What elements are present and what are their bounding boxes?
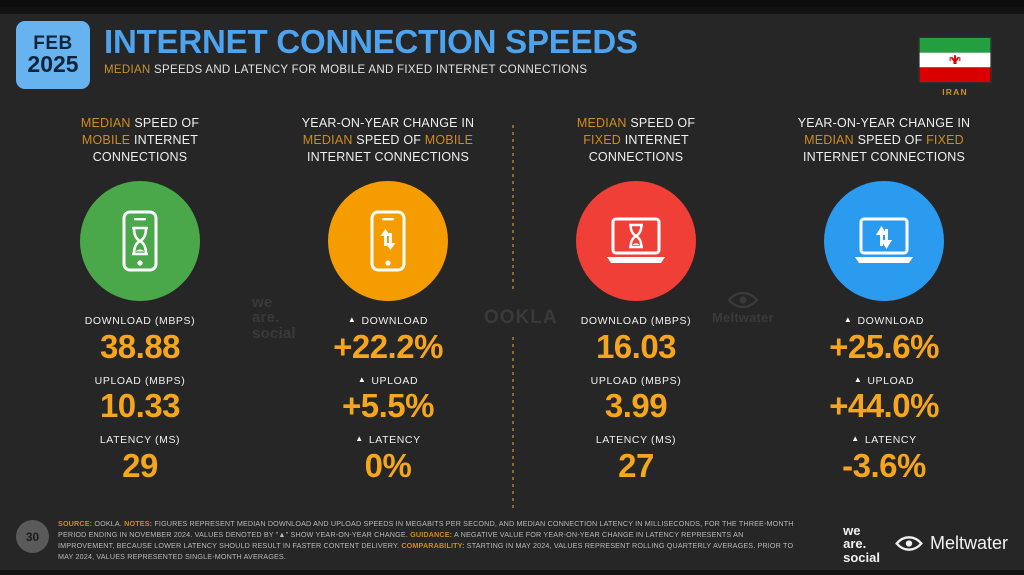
column-heading: MEDIAN SPEED OFMOBILE INTERNETCONNECTION… [20,115,260,177]
icon-circle [328,181,448,301]
metric-label: ▲LATENCY [760,434,1008,447]
metric-label: LATENCY (MS) [16,434,264,447]
watermark-meltwater: Meltwater [712,292,774,325]
metric-label-text: DOWNLOAD [857,315,924,328]
logo-meltwater: Meltwater [894,533,1008,554]
metric-value: 16.03 [512,329,760,366]
metric-label: UPLOAD (MBPS) [16,375,264,388]
metric-label: LATENCY (MS) [512,434,760,447]
icon-circle [80,181,200,301]
heading-text: YEAR-ON-YEAR CHANGE IN [302,116,474,130]
metric-label-text: LATENCY (MS) [100,434,180,447]
heading-highlight: MEDIAN [804,133,854,147]
metric-label: DOWNLOAD (MBPS) [16,315,264,328]
logo-was-line-1: we [843,524,880,537]
metric-value: 10.33 [16,388,264,425]
metric-value: 0% [264,448,512,485]
metric-label-text: LATENCY [865,434,917,447]
column-heading: MEDIAN SPEED OFFIXED INTERNETCONNECTIONS [516,115,756,177]
subtitle-rest: SPEEDS AND LATENCY FOR MOBILE AND FIXED … [151,64,588,76]
date-badge: FEB 2025 [16,21,90,89]
metric-list: DOWNLOAD (MBPS)38.88UPLOAD (MBPS)10.33LA… [16,315,264,485]
heading-text: CONNECTIONS [93,150,188,164]
metric-label-text: DOWNLOAD [361,315,428,328]
title-block: INTERNET CONNECTION SPEEDS MEDIAN SPEEDS… [104,25,638,76]
footnote-text: SOURCE: OOKLA. NOTES: FIGURES REPRESENT … [58,518,798,563]
metric-list: ▲DOWNLOAD+25.6%▲UPLOAD+44.0%▲LATENCY-3.6… [760,315,1008,485]
metric-label: ▲LATENCY [264,434,512,447]
heading-highlight: MEDIAN [577,116,627,130]
metric-label: ▲DOWNLOAD [760,315,1008,328]
icon-circle [576,181,696,301]
watermark-we-are-social: we are. social [252,295,296,341]
laptop-transfer-icon [843,200,925,282]
column-heading-line: MEDIAN SPEED OF [516,115,756,132]
metric-label: UPLOAD (MBPS) [512,375,760,388]
metric-value: 38.88 [16,329,264,366]
column-heading-line: YEAR-ON-YEAR CHANGE IN [268,115,508,132]
mobile-hourglass-icon [101,202,179,280]
watermark-was-line-1: we [252,295,296,310]
metric-value: 3.99 [512,388,760,425]
triangle-up-icon: ▲ [358,376,367,384]
heading-highlight: MOBILE [425,133,473,147]
metric-label-text: UPLOAD [371,375,418,388]
column-heading-line: CONNECTIONS [516,149,756,166]
column-heading-line: CONNECTIONS [20,149,260,166]
metric-label-text: LATENCY [369,434,421,447]
metric-value: 27 [512,448,760,485]
slide-header: FEB 2025 INTERNET CONNECTION SPEEDS MEDI… [16,21,1008,93]
metric-list: DOWNLOAD (MBPS)16.03UPLOAD (MBPS)3.99LAT… [512,315,760,485]
metric-value: -3.6% [760,448,1008,485]
heading-text: SPEED OF [131,116,199,130]
metric-label-text: DOWNLOAD (MBPS) [85,315,196,328]
slide-bottom-edge [0,570,1024,575]
column-heading-line: MEDIAN SPEED OF [20,115,260,132]
heading-text: INTERNET [130,133,198,147]
column-heading-line: MEDIAN SPEED OF MOBILE [268,132,508,149]
column-heading: YEAR-ON-YEAR CHANGE INMEDIAN SPEED OF FI… [764,115,1004,177]
country-flag-block: IRAN [918,37,992,97]
triangle-up-icon: ▲ [844,316,853,324]
column-mobile-speed: MEDIAN SPEED OFMOBILE INTERNETCONNECTION… [16,115,264,515]
heading-text: INTERNET [621,133,689,147]
triangle-up-icon: ▲ [851,435,860,443]
date-year: 2025 [27,53,78,76]
metric-value: +25.6% [760,329,1008,366]
watermark-was-line-3: social [252,326,296,341]
column-heading-line: MEDIAN SPEED OF FIXED [764,132,1004,149]
logo-meltwater-label: Meltwater [930,533,1008,554]
heading-text: CONNECTIONS [589,150,684,164]
footnote-label: NOTES: [124,519,152,528]
heading-highlight: MOBILE [82,133,130,147]
page-number-badge: 30 [16,520,49,553]
logo-we-are-social: we are. social [843,524,880,564]
footnote-body: OOKLA. [92,519,124,528]
heading-text: INTERNET CONNECTIONS [307,150,469,164]
metric-label-text: UPLOAD [867,375,914,388]
column-heading-line: INTERNET CONNECTIONS [268,149,508,166]
logo-was-line-2: are. [843,537,880,550]
iran-flag-icon [918,37,992,83]
metric-value: +22.2% [264,329,512,366]
laptop-hourglass-icon [595,200,677,282]
column-heading: YEAR-ON-YEAR CHANGE INMEDIAN SPEED OF MO… [268,115,508,177]
meltwater-eye-logo-icon [894,536,924,551]
heading-text: SPEED OF [627,116,695,130]
watermark-ookla: OOKLA [484,307,558,329]
footnote-label: COMPARABILITY: [401,541,464,550]
heading-highlight: MEDIAN [303,133,353,147]
slide-footer: 30 SOURCE: OOKLA. NOTES: FIGURES REPRESE… [0,510,1024,570]
slide-canvas: FEB 2025 INTERNET CONNECTION SPEEDS MEDI… [0,0,1024,575]
metric-label-text: UPLOAD (MBPS) [95,375,186,388]
watermark-meltwater-label: Meltwater [712,310,774,325]
heading-highlight: FIXED [583,133,621,147]
metric-label: ▲DOWNLOAD [264,315,512,328]
brand-logos: we are. social Meltwater [843,524,1008,564]
logo-was-line-3: social [843,551,880,564]
metric-label: ▲UPLOAD [760,375,1008,388]
column-heading-line: INTERNET CONNECTIONS [764,149,1004,166]
column-mobile-yoy: YEAR-ON-YEAR CHANGE INMEDIAN SPEED OF MO… [264,115,512,515]
icon-circle [824,181,944,301]
triangle-up-icon: ▲ [348,316,357,324]
column-heading-line: YEAR-ON-YEAR CHANGE IN [764,115,1004,132]
page-title: INTERNET CONNECTION SPEEDS [104,25,638,60]
heading-text: SPEED OF [353,133,425,147]
metric-value: 29 [16,448,264,485]
country-label: IRAN [918,87,992,97]
heading-text: SPEED OF [854,133,926,147]
column-heading-line: FIXED INTERNET [516,132,756,149]
page-subtitle: MEDIAN SPEEDS AND LATENCY FOR MOBILE AND… [104,64,638,76]
triangle-up-icon: ▲ [355,435,364,443]
heading-text: INTERNET CONNECTIONS [803,150,965,164]
metric-list: ▲DOWNLOAD+22.2%▲UPLOAD+5.5%▲LATENCY0% [264,315,512,485]
metric-value: +5.5% [264,388,512,425]
metric-label-text: DOWNLOAD (MBPS) [581,315,692,328]
metric-label-text: LATENCY (MS) [596,434,676,447]
mobile-transfer-icon [349,202,427,280]
meltwater-eye-icon [726,292,760,308]
footnote-label: SOURCE: [58,519,92,528]
column-heading-line: MOBILE INTERNET [20,132,260,149]
watermark-was-line-2: are. [252,310,296,325]
slide-top-edge [0,7,1024,14]
triangle-up-icon: ▲ [854,376,863,384]
column-fixed-yoy: YEAR-ON-YEAR CHANGE INMEDIAN SPEED OF FI… [760,115,1008,515]
heading-highlight: MEDIAN [81,116,131,130]
metric-label-text: UPLOAD (MBPS) [591,375,682,388]
footnote-label: GUIDANCE: [410,530,452,539]
heading-highlight: FIXED [926,133,964,147]
metric-value: +44.0% [760,388,1008,425]
heading-text: YEAR-ON-YEAR CHANGE IN [798,116,970,130]
metric-label: ▲UPLOAD [264,375,512,388]
subtitle-highlight: MEDIAN [104,64,151,76]
